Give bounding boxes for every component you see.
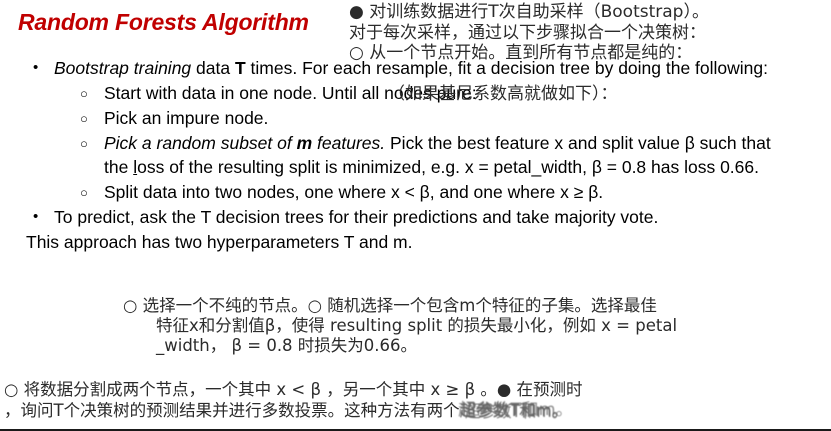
chinese-overlay-bottom: ○ 将数据分割成两个节点，一个其中 x < β ，另一个其中 x ≥ β 。● … <box>4 379 582 421</box>
chinese-overlay-gini-note: （如果基尼系数高就做如下）： <box>388 84 618 104</box>
sub3-lead-italic: Pick a random subset of <box>104 133 297 153</box>
bullet-lead-italic: Bootstrap training <box>54 58 191 78</box>
chinese-top-line-3: ○ 从一个节点开始。直到所有节点都是纯的： <box>349 43 709 64</box>
sub-bullet-pick-impure: ○ Pick an impure node. <box>0 106 790 130</box>
bullet-circle-icon: ○ <box>80 181 88 205</box>
sub-bullet-random-subset: ○ Pick a random subset of m features. Pi… <box>0 131 790 179</box>
sub3-bold-m: m <box>297 133 313 153</box>
chinese-bottom-line-2: ，询问T个决策树的预测结果并进行多数投票。这种方法有两个超参数T和m。超参数T和… <box>4 400 582 421</box>
sub-bullet-text: Pick a random subset of m features. Pick… <box>104 133 771 177</box>
sub-bullet-text: Pick an impure node. <box>104 108 268 128</box>
bullet-circle-icon: ○ <box>80 132 88 156</box>
chinese-gini-line: （如果基尼系数高就做如下）： <box>388 84 618 104</box>
bullet-mid: data <box>191 58 235 78</box>
closing-text: This approach has two hyperparameters T … <box>26 232 413 252</box>
chinese-top-line-2: 对于每次采样，通过以下步骤拟合一个决策树： <box>349 23 709 44</box>
chinese-overlay-top: ● 对训练数据进行T次自助采样（Bootstrap）。 对于每次采样，通过以下步… <box>349 2 709 64</box>
closing-sentence: This approach has two hyperparameters T … <box>0 230 790 254</box>
bullet-dot-icon: • <box>33 56 38 80</box>
chinese-overlay-middle: ○ 选择一个不纯的节点。○ 随机选择一个包含m个特征的子集。选择最佳 特征x和分… <box>123 296 677 356</box>
sub-bullet-text: Split data into two nodes, one where x <… <box>104 182 603 202</box>
chinese-middle-line-2: 特征x和分割值β，使得 resulting split 的损失最小化，例如 x … <box>123 316 677 336</box>
sub-bullet-split-data: ○ Split data into two nodes, one where x… <box>0 180 790 204</box>
chinese-middle-line-3: _width， β = 0.8 时损失为0.66。 <box>123 336 677 356</box>
chinese-middle-line-1: ○ 选择一个不纯的节点。○ 随机选择一个包含m个特征的子集。选择最佳 <box>123 296 677 316</box>
bullet-circle-icon: ○ <box>80 107 88 131</box>
chinese-bottom-line-1: ○ 将数据分割成两个节点，一个其中 x < β ，另一个其中 x ≥ β 。● … <box>4 379 582 400</box>
slide-title: Random Forests Algorithm <box>18 10 348 35</box>
chinese-bottom-line-2-head: ，询问T个决策树的预测结果并进行多数投票。这种方法有两个 <box>4 401 460 420</box>
bullet-dot-icon: • <box>33 205 38 229</box>
garble-layer-3: 超参数T和m。 <box>458 399 573 420</box>
bullet-bold-t: T <box>235 58 246 78</box>
sub3-rest-b: oss of the resulting split is minimized,… <box>137 157 759 177</box>
chinese-top-line-1: ● 对训练数据进行T次自助采样（Bootstrap）。 <box>349 2 709 23</box>
bullet-text: To predict, ask the T decision trees for… <box>54 207 658 227</box>
bullet-circle-icon: ○ <box>80 82 88 106</box>
chinese-bottom-garbled-tail: 超参数T和m。超参数T和m。超参数T和m。 <box>460 400 569 421</box>
sub3-lead-italic-2: features. <box>312 133 385 153</box>
bullet-item-predict: • To predict, ask the T decision trees f… <box>0 205 790 229</box>
slide-canvas: Random Forests Algorithm • Bootstrap tra… <box>0 0 831 431</box>
